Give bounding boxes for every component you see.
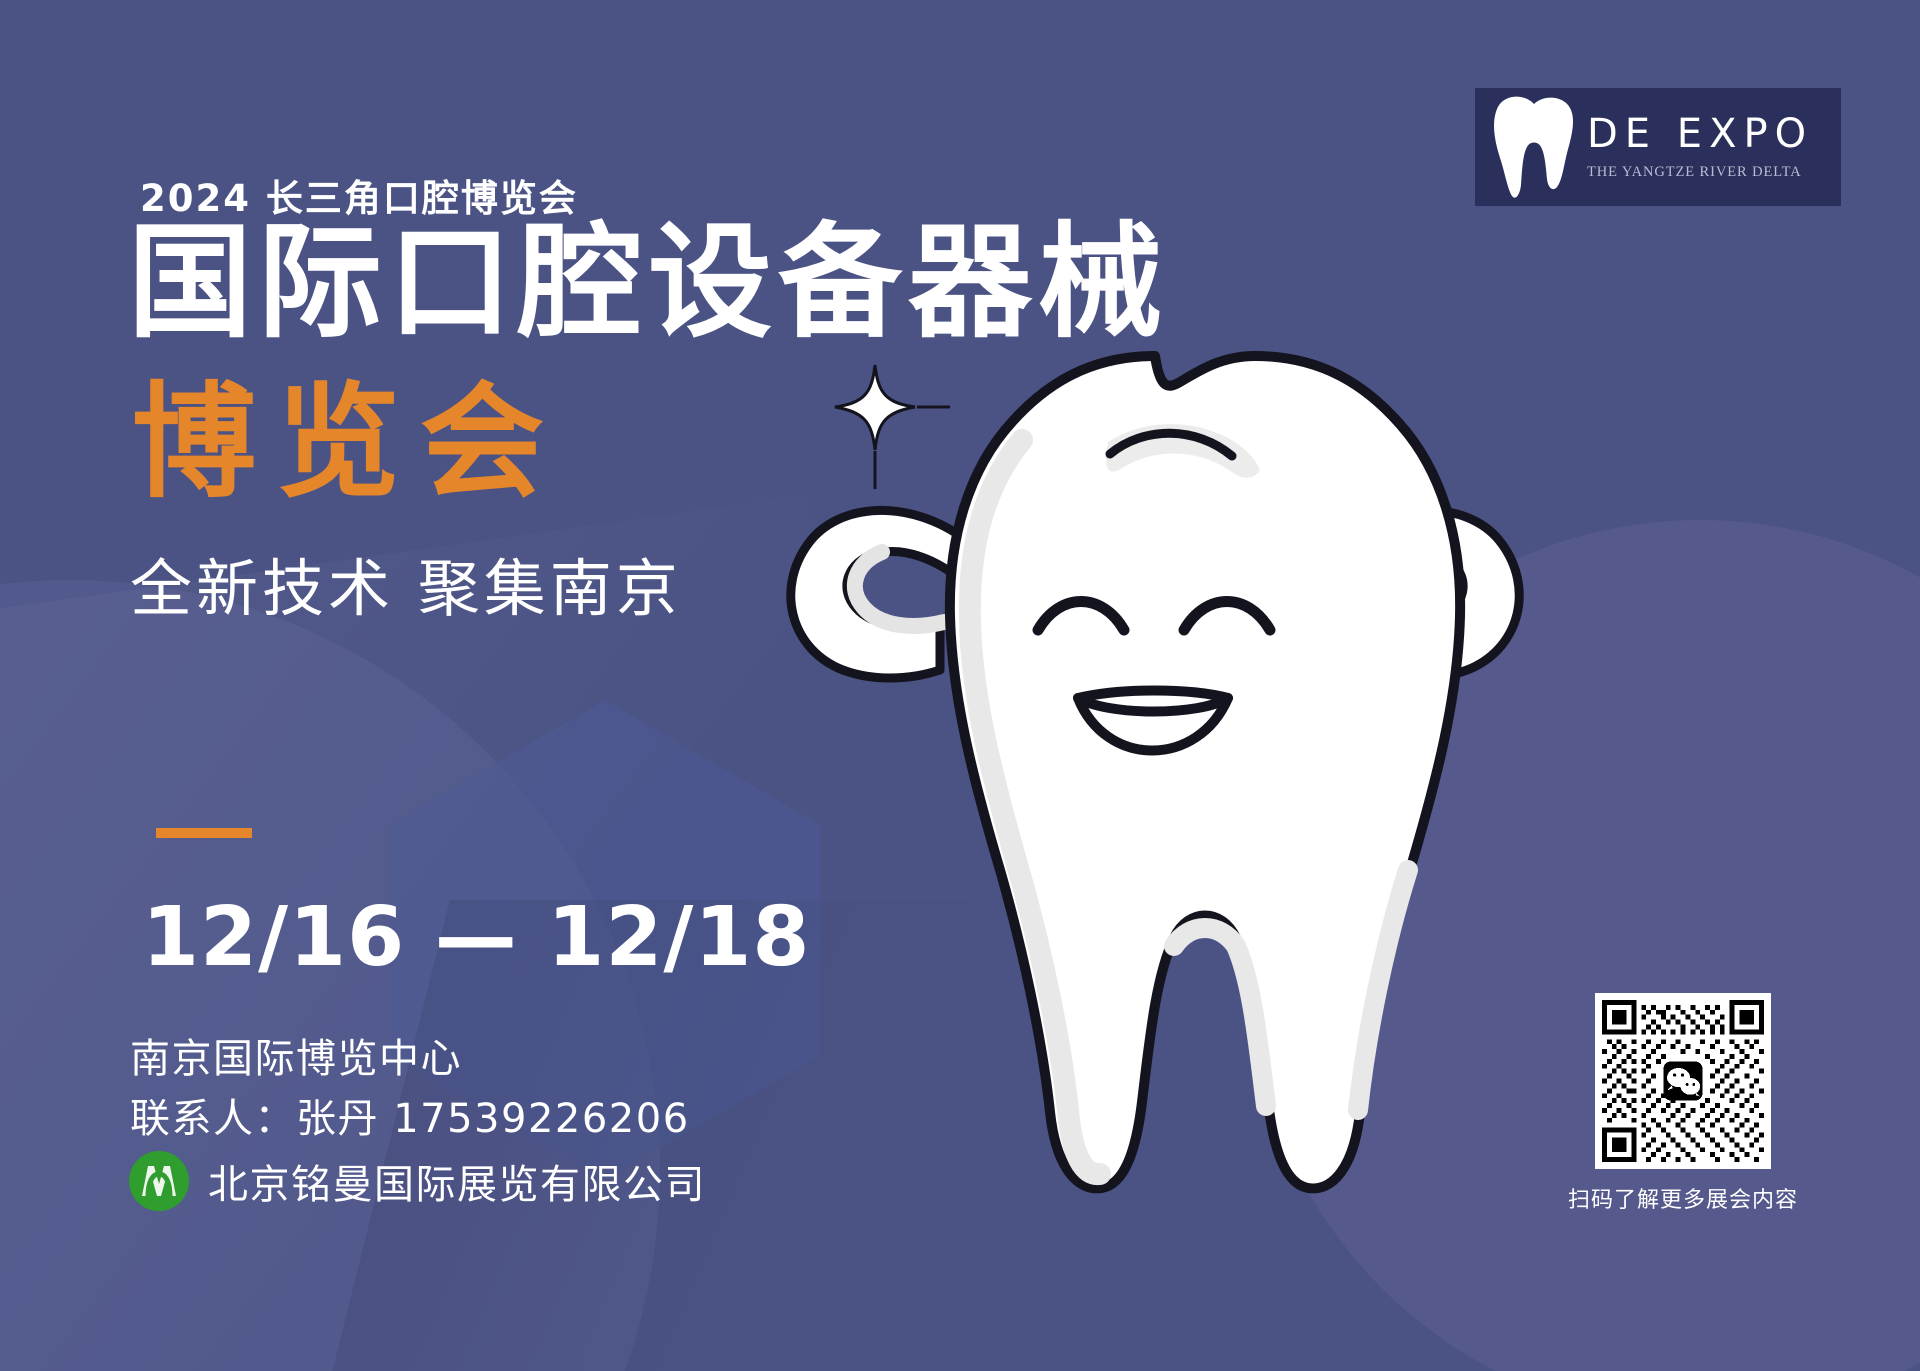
qr-code-frame[interactable] <box>1595 993 1771 1169</box>
organizer-logo-icon <box>128 1150 190 1212</box>
brand-logo-text: DE EXPO THE YANGTZE RIVER DELTA <box>1587 113 1813 181</box>
brand-tagline: THE YANGTZE RIVER DELTA <box>1587 164 1813 181</box>
organizer-name: 北京铭曼国际展览有限公司 <box>208 1152 706 1210</box>
poster-canvas: DE EXPO THE YANGTZE RIVER DELTA 2024 长三角… <box>0 0 1920 1371</box>
brand-logo-box: DE EXPO THE YANGTZE RIVER DELTA <box>1475 88 1841 206</box>
event-venue: 南京国际博览中心 <box>130 1026 462 1084</box>
tooth-logo-icon <box>1491 95 1577 199</box>
accent-divider <box>156 828 252 838</box>
event-contact: 联系人：张丹 17539226206 <box>130 1086 690 1144</box>
organizer-row: 北京铭曼国际展览有限公司 <box>128 1150 706 1212</box>
brand-name: DE EXPO <box>1587 113 1813 155</box>
event-date: 12/16 — 12/18 <box>142 890 810 985</box>
qr-caption: 扫码了解更多展会内容 <box>1550 1182 1816 1214</box>
headline-tagline: 全新技术 聚集南京 <box>130 538 682 628</box>
tooth-mascot <box>760 330 1550 1210</box>
qr-code-block[interactable]: 扫码了解更多展会内容 <box>1595 993 1861 1214</box>
wechat-qr-code[interactable] <box>1602 1000 1764 1162</box>
headline-line-two: 博览会 <box>132 378 564 509</box>
